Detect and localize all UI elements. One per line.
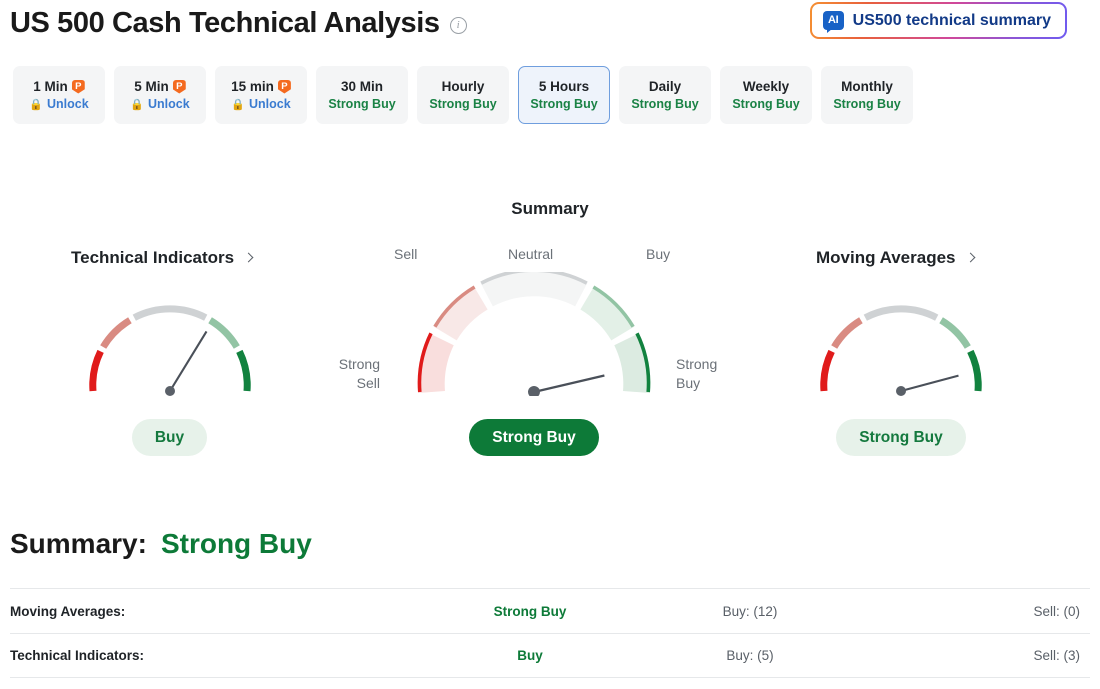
technical-indicators-gauge-block: Technical Indicators bbox=[71, 248, 331, 268]
summary-gauge bbox=[414, 272, 654, 401]
tab-signal: Strong Buy bbox=[833, 97, 900, 111]
row-name: Moving Averages: bbox=[10, 604, 440, 619]
lock-icon: 🔒 bbox=[29, 98, 43, 111]
row-buy-count: Buy: (12) bbox=[620, 604, 880, 619]
tab-1-min[interactable]: 1 MinP🔒Unlock bbox=[13, 66, 105, 124]
tab-name-text: 1 Min bbox=[33, 79, 68, 94]
table-row: Technical Indicators:BuyBuy: (5)Sell: (3… bbox=[10, 633, 1090, 678]
tab-5-min[interactable]: 5 MinP🔒Unlock bbox=[114, 66, 206, 124]
tab-signal: Strong Buy bbox=[732, 97, 799, 111]
chevron-right-icon bbox=[244, 253, 254, 263]
pro-badge-icon: P bbox=[72, 80, 85, 94]
tab-hourly[interactable]: HourlyStrong Buy bbox=[417, 66, 509, 124]
tab-name: 1 MinP bbox=[33, 79, 85, 94]
tab-30-min[interactable]: 30 MinStrong Buy bbox=[316, 66, 408, 124]
tab-15-min[interactable]: 15 minP🔒Unlock bbox=[215, 66, 307, 124]
pro-badge-icon: P bbox=[173, 80, 186, 94]
tab-signal: Strong Buy bbox=[328, 97, 395, 111]
technical-indicators-title: Technical Indicators bbox=[71, 248, 234, 268]
page-title: US 500 Cash Technical Analysis bbox=[10, 7, 440, 40]
moving-averages-result-wrap: Strong Buy bbox=[762, 419, 1040, 456]
tab-signal: Strong Buy bbox=[530, 97, 597, 111]
tab-name-text: 5 Min bbox=[134, 79, 169, 94]
row-signal: Buy bbox=[440, 648, 620, 663]
tab-name-text: Weekly bbox=[743, 79, 789, 94]
summary-result-pill: Strong Buy bbox=[469, 419, 599, 456]
moving-averages-link[interactable]: Moving Averages bbox=[816, 248, 1076, 268]
tab-daily[interactable]: DailyStrong Buy bbox=[619, 66, 711, 124]
tab-name-text: 15 min bbox=[231, 79, 274, 94]
row-signal: Strong Buy bbox=[440, 604, 620, 619]
ai-badge-icon: AI bbox=[823, 11, 844, 30]
technical-indicators-link[interactable]: Technical Indicators bbox=[71, 248, 331, 268]
chevron-right-icon bbox=[965, 253, 975, 263]
summary-gauge-heading: Summary bbox=[0, 199, 1100, 219]
moving-averages-gauge bbox=[815, 300, 987, 401]
unlock-link[interactable]: 🔒Unlock bbox=[29, 97, 88, 111]
tab-name: 30 Min bbox=[341, 79, 383, 94]
unlock-label: Unlock bbox=[148, 97, 190, 111]
row-sell-count: Sell: (0) bbox=[880, 604, 1090, 619]
tab-weekly[interactable]: WeeklyStrong Buy bbox=[720, 66, 812, 124]
gauge-label-sell: Sell bbox=[394, 245, 417, 264]
moving-averages-result-pill: Strong Buy bbox=[836, 419, 966, 456]
tab-name: Daily bbox=[649, 79, 681, 94]
tab-name-text: Daily bbox=[649, 79, 681, 94]
tab-name: 15 minP bbox=[231, 79, 291, 94]
tab-name: Hourly bbox=[442, 79, 485, 94]
tab-name-text: 5 Hours bbox=[539, 79, 589, 94]
tab-name-text: Monthly bbox=[841, 79, 893, 94]
unlock-label: Unlock bbox=[47, 97, 89, 111]
row-sell-count: Sell: (3) bbox=[880, 648, 1090, 663]
tab-name: Monthly bbox=[841, 79, 893, 94]
tab-5-hours[interactable]: 5 HoursStrong Buy bbox=[518, 66, 610, 124]
tab-name: Weekly bbox=[743, 79, 789, 94]
moving-averages-title: Moving Averages bbox=[816, 248, 956, 268]
timeframe-tabs: 1 MinP🔒Unlock5 MinP🔒Unlock15 minP🔒Unlock… bbox=[13, 66, 913, 124]
moving-averages-gauge-block: Moving Averages bbox=[816, 248, 1076, 268]
tab-signal: Strong Buy bbox=[631, 97, 698, 111]
tab-name: 5 MinP bbox=[134, 79, 186, 94]
tab-name-text: Hourly bbox=[442, 79, 485, 94]
pro-badge-icon: P bbox=[278, 80, 291, 94]
ai-technical-summary-button[interactable]: AI US500 technical summary bbox=[810, 2, 1067, 39]
summary-value: Strong Buy bbox=[161, 528, 312, 560]
row-buy-count: Buy: (5) bbox=[620, 648, 880, 663]
lock-icon: 🔒 bbox=[130, 98, 144, 111]
unlock-link[interactable]: 🔒Unlock bbox=[130, 97, 189, 111]
table-row: Moving Averages:Strong BuyBuy: (12)Sell:… bbox=[10, 588, 1090, 633]
row-name: Technical Indicators: bbox=[10, 648, 440, 663]
unlock-label: Unlock bbox=[249, 97, 291, 111]
tab-monthly[interactable]: MonthlyStrong Buy bbox=[821, 66, 913, 124]
info-icon[interactable]: i bbox=[450, 17, 467, 34]
ai-button-label: US500 technical summary bbox=[853, 12, 1051, 30]
unlock-link[interactable]: 🔒Unlock bbox=[231, 97, 290, 111]
summary-line: Summary: Strong Buy bbox=[10, 528, 312, 560]
gauge-label-strong-sell: Strong Sell bbox=[270, 355, 380, 393]
technical-indicators-gauge bbox=[84, 300, 256, 401]
gauge-label-strong-buy: Strong Buy bbox=[676, 355, 786, 393]
technical-analysis-page: US 500 Cash Technical Analysis i AI US50… bbox=[0, 0, 1100, 689]
gauge-label-buy: Buy bbox=[646, 245, 670, 264]
lock-icon: 🔒 bbox=[231, 98, 245, 111]
summary-table: Moving Averages:Strong BuyBuy: (12)Sell:… bbox=[10, 588, 1090, 678]
tab-signal: Strong Buy bbox=[429, 97, 496, 111]
summary-label: Summary: bbox=[10, 528, 147, 560]
tab-name-text: 30 Min bbox=[341, 79, 383, 94]
gauge-label-neutral: Neutral bbox=[508, 245, 553, 264]
tab-name: 5 Hours bbox=[539, 79, 589, 94]
